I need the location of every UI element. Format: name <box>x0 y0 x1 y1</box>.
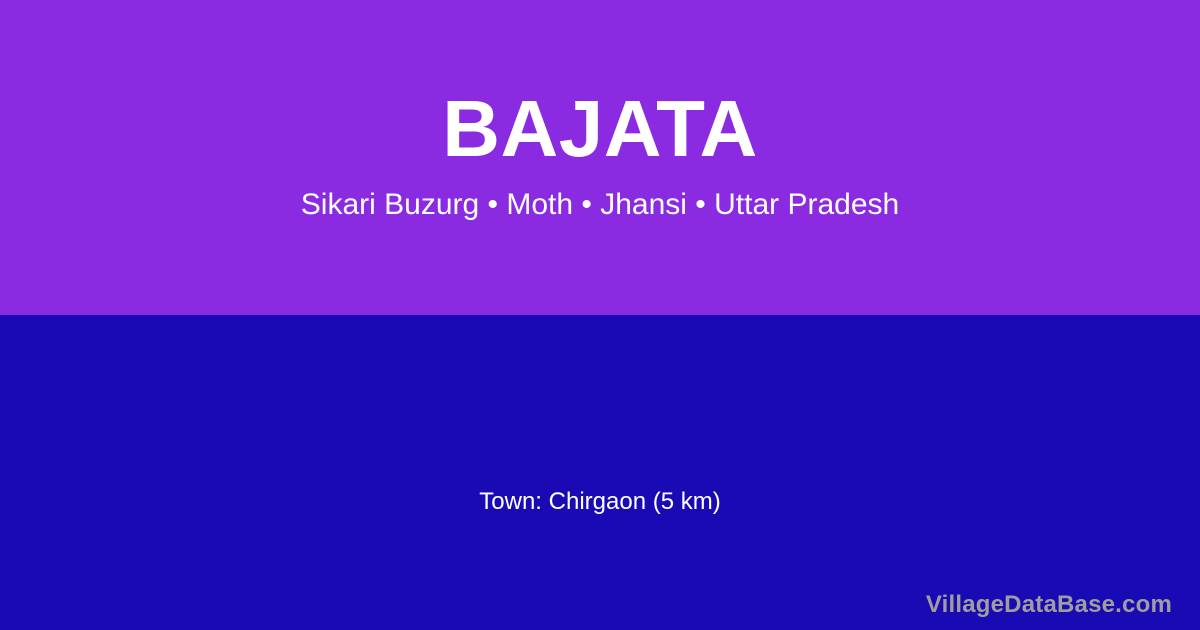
hero-panel: BAJATA Sikari Buzurg • Moth • Jhansi • U… <box>0 0 1200 315</box>
info-panel: Town: Chirgaon (5 km) VillageDataBase.co… <box>0 315 1200 630</box>
site-watermark: VillageDataBase.com <box>926 591 1172 620</box>
page-title: BAJATA <box>442 89 758 169</box>
nearest-town-text: Town: Chirgaon (5 km) <box>0 487 1200 517</box>
breadcrumb: Sikari Buzurg • Moth • Jhansi • Uttar Pr… <box>301 187 899 223</box>
village-info-banner: BAJATA Sikari Buzurg • Moth • Jhansi • U… <box>0 0 1200 630</box>
